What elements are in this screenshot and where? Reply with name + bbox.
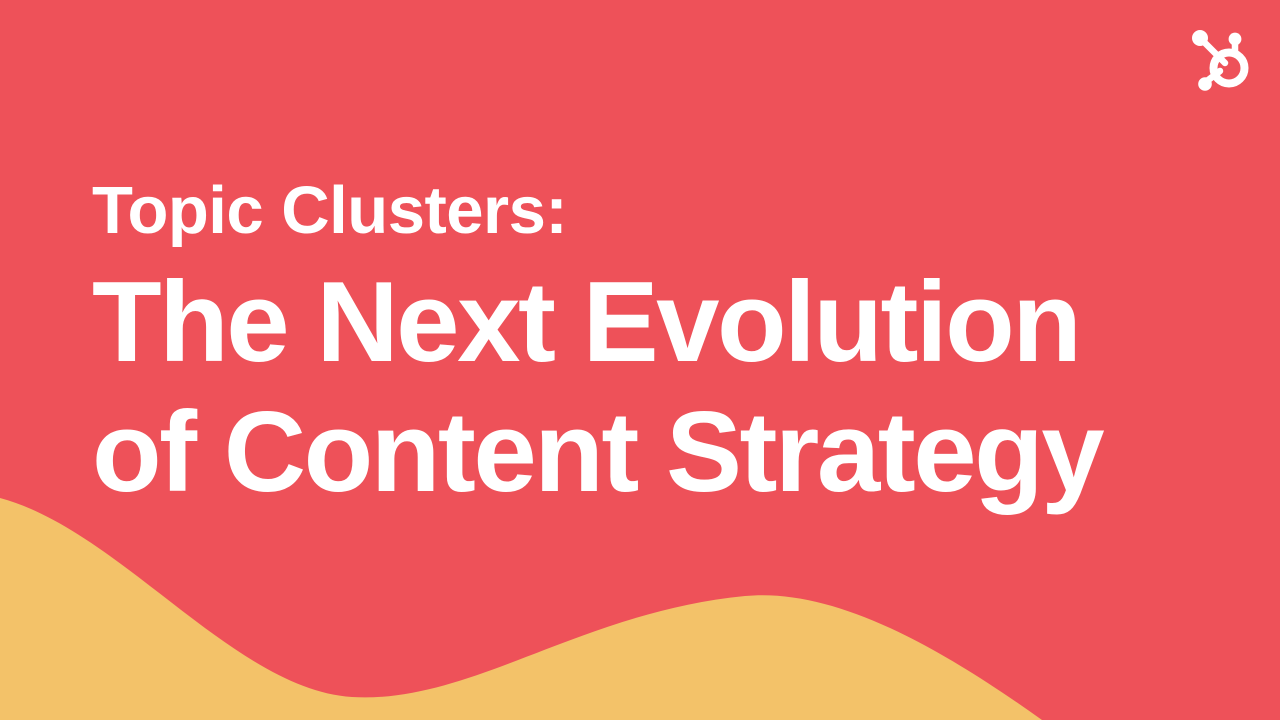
headline-line-1: The Next Evolution bbox=[92, 258, 1212, 388]
slide-subtitle: Topic Clusters: bbox=[92, 172, 1212, 250]
title-slide: Topic Clusters: The Next Evolution of Co… bbox=[0, 0, 1280, 720]
headline-line-2: of Content Strategy bbox=[92, 388, 1212, 518]
slide-headline: The Next Evolution of Content Strategy bbox=[92, 258, 1212, 518]
hubspot-sprocket-logo[interactable] bbox=[1184, 24, 1256, 96]
title-text-block: Topic Clusters: The Next Evolution of Co… bbox=[92, 172, 1212, 518]
